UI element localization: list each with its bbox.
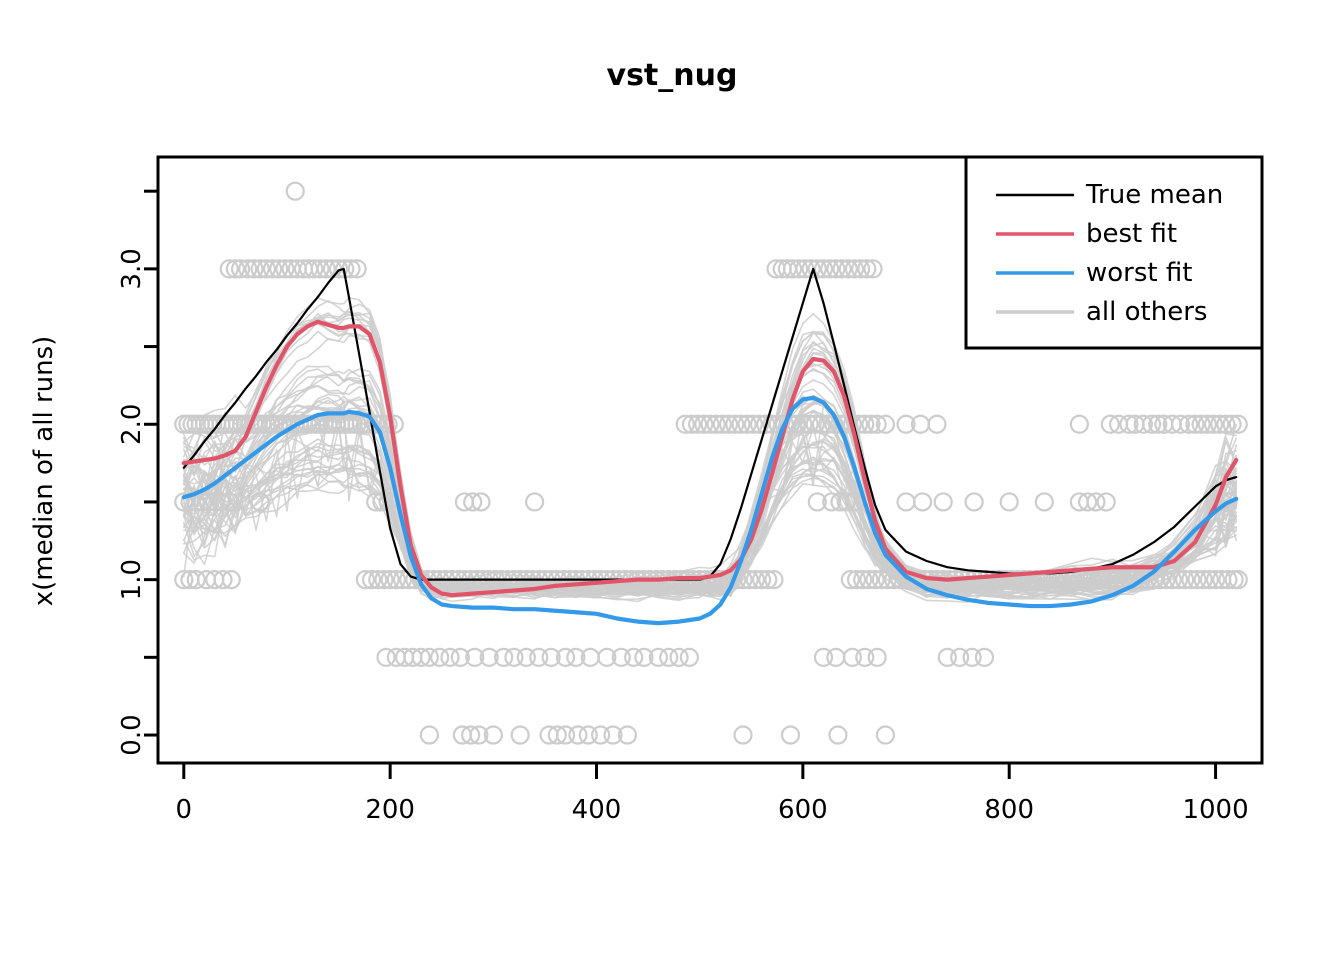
legend: True meanbest fitworst fitall others [966, 157, 1262, 348]
legend-label: worst fit [1086, 258, 1192, 288]
y-tick-label: 1.0 [117, 559, 147, 600]
legend-label: all others [1086, 297, 1207, 327]
x-tick-label: 800 [984, 795, 1034, 825]
x-tick-label: 0 [176, 795, 193, 825]
x-tick-label: 200 [365, 795, 415, 825]
legend-label: best fit [1086, 219, 1177, 249]
x-tick-label: 400 [572, 795, 622, 825]
x-tick-label: 1000 [1182, 795, 1248, 825]
y-tick-label: 3.0 [117, 248, 147, 289]
y-tick-label: 0.0 [117, 714, 147, 755]
legend-label: True mean [1085, 180, 1223, 210]
x-tick-label: 600 [778, 795, 828, 825]
chart-root: vst_nug x(median of all runs) 0.01.02.03… [0, 0, 1344, 960]
plot-canvas: 0.01.02.03.002004006008001000 True meanb… [0, 0, 1344, 960]
y-tick-label: 2.0 [117, 404, 147, 445]
